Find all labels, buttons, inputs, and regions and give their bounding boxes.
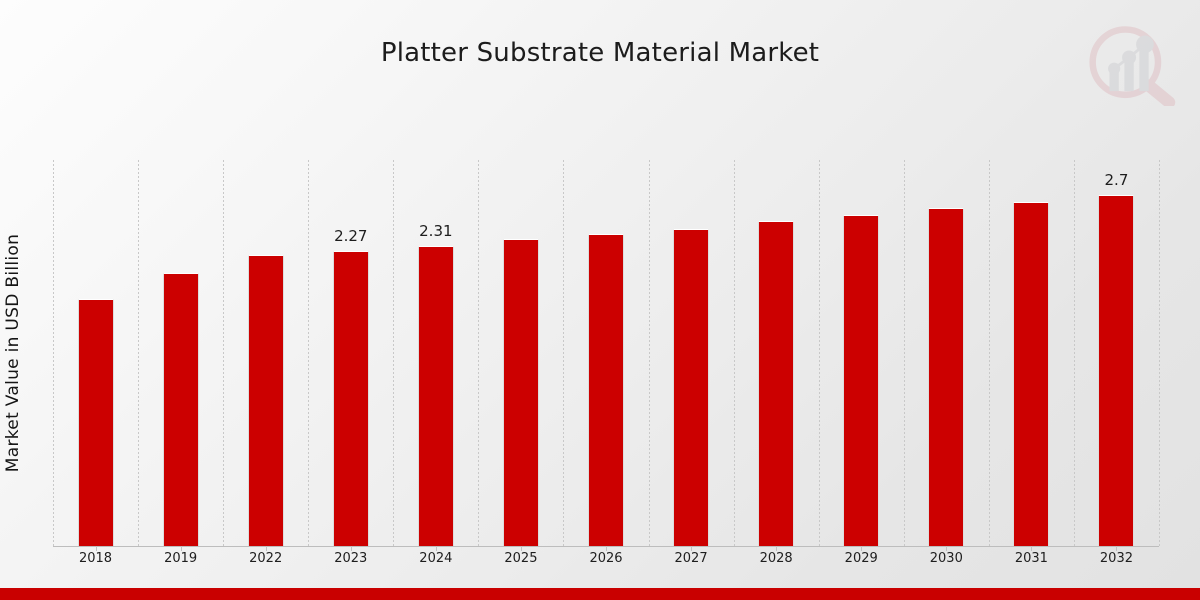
gridline xyxy=(53,160,54,546)
x-tick-label-2026: 2026 xyxy=(566,551,646,566)
x-tick-label-2025: 2025 xyxy=(481,551,561,566)
bar-2030[interactable] xyxy=(928,208,964,546)
bar-2024[interactable] xyxy=(418,246,454,546)
gridline xyxy=(904,160,905,546)
x-tick-label-2028: 2028 xyxy=(736,551,816,566)
chart-page: Platter Substrate Material Market Market… xyxy=(0,0,1200,600)
gridline xyxy=(1074,160,1075,546)
x-tick-label-2023: 2023 xyxy=(311,551,391,566)
bar-2028[interactable] xyxy=(758,221,794,546)
y-axis-title: Market Value in USD Billion xyxy=(0,160,28,546)
gridline xyxy=(563,160,564,546)
bar-2029[interactable] xyxy=(843,215,879,546)
gridline xyxy=(478,160,479,546)
bar-2027[interactable] xyxy=(673,229,709,546)
bar-2018[interactable] xyxy=(78,299,114,546)
gridline xyxy=(223,160,224,546)
gridline xyxy=(1159,160,1160,546)
bar-2031[interactable] xyxy=(1013,202,1049,546)
x-tick-label-2022: 2022 xyxy=(226,551,306,566)
x-tick-label-2030: 2030 xyxy=(906,551,986,566)
bar-2019[interactable] xyxy=(163,273,199,546)
gridline xyxy=(734,160,735,546)
bar-2032[interactable] xyxy=(1098,195,1134,546)
x-tick-label-2032: 2032 xyxy=(1076,551,1156,566)
x-tick-label-2027: 2027 xyxy=(651,551,731,566)
bar-value-label-2024: 2.31 xyxy=(396,222,476,240)
bar-2025[interactable] xyxy=(503,239,539,546)
page-title: Platter Substrate Material Market xyxy=(0,38,1200,68)
gridline xyxy=(138,160,139,546)
x-tick-label-2024: 2024 xyxy=(396,551,476,566)
bar-2022[interactable] xyxy=(248,255,284,546)
gridline xyxy=(989,160,990,546)
bar-2023[interactable] xyxy=(333,251,369,546)
x-tick-label-2029: 2029 xyxy=(821,551,901,566)
gridline xyxy=(649,160,650,546)
gridline xyxy=(308,160,309,546)
bar-value-label-2023: 2.27 xyxy=(311,227,391,245)
x-tick-label-2019: 2019 xyxy=(141,551,221,566)
x-tick-label-2031: 2031 xyxy=(991,551,1071,566)
gridline xyxy=(393,160,394,546)
bar-value-label-2032: 2.7 xyxy=(1076,171,1156,189)
footer-accent-bar xyxy=(0,588,1200,600)
bar-2026[interactable] xyxy=(588,234,624,546)
gridline xyxy=(819,160,820,546)
plot-area xyxy=(53,160,1159,546)
x-tick-label-2018: 2018 xyxy=(56,551,136,566)
magnifier-bar-chart-logo-icon xyxy=(1082,22,1178,106)
